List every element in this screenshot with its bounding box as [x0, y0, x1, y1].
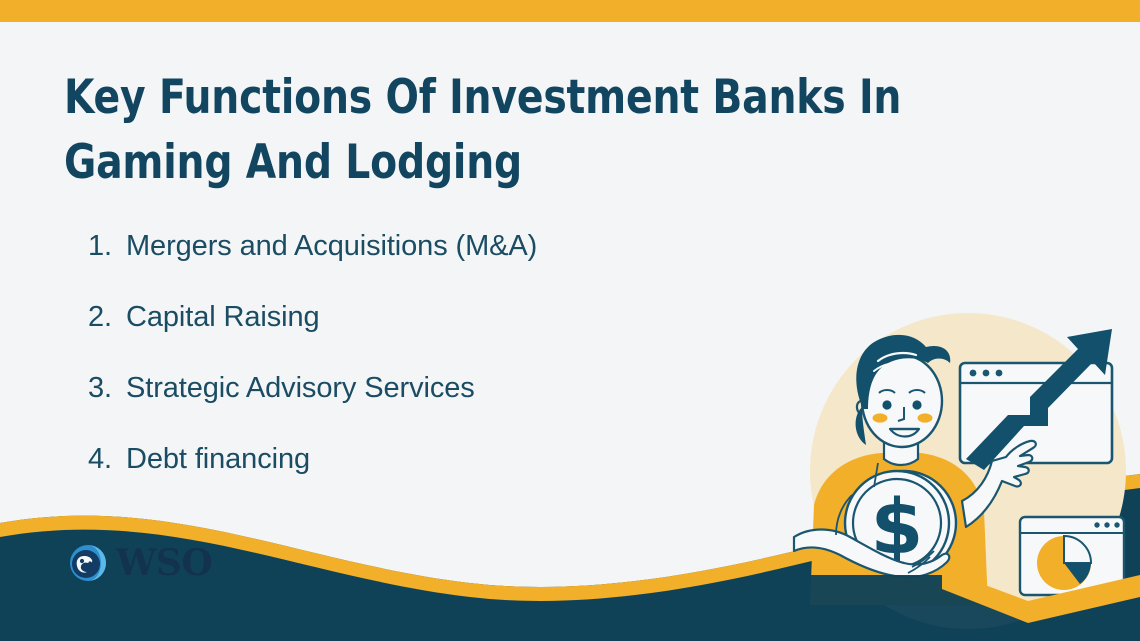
- list-item-number: 2.: [88, 301, 126, 334]
- list-item: 1. Mergers and Acquisitions (M&A): [88, 230, 848, 301]
- list-item-number: 4.: [88, 443, 126, 476]
- list-item-number: 1.: [88, 230, 126, 263]
- blush-left: [873, 413, 888, 422]
- list-item-label: Debt financing: [126, 443, 310, 476]
- list-item-number: 3.: [88, 372, 126, 405]
- list-item: 3. Strategic Advisory Services: [88, 372, 848, 443]
- list-item-label: Mergers and Acquisitions (M&A): [126, 230, 537, 263]
- key-functions-list: 1. Mergers and Acquisitions (M&A) 2. Cap…: [88, 230, 848, 514]
- list-item-label: Capital Raising: [126, 301, 320, 334]
- page-title: Key Functions Of Investment Banks In Gam…: [64, 66, 1022, 196]
- list-item: 4. Debt financing: [88, 443, 848, 514]
- slide-canvas: $ Key Functions Of Investment Banks In G…: [0, 0, 1140, 641]
- top-accent-bar: [0, 0, 1140, 22]
- wso-logo[interactable]: WSO: [68, 541, 212, 585]
- list-item-label: Strategic Advisory Services: [126, 372, 475, 405]
- list-item: 2. Capital Raising: [88, 301, 848, 372]
- globe-icon: [68, 543, 108, 583]
- wso-wordmark: WSO: [116, 545, 212, 581]
- blush-right: [918, 413, 933, 422]
